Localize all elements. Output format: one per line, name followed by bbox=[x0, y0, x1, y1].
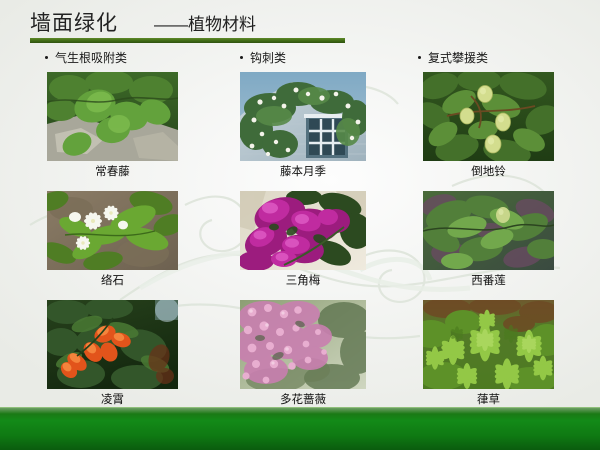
page-subtitle: ——植物材料 bbox=[154, 16, 256, 35]
photo-cell-5 bbox=[423, 191, 554, 270]
photo-caption-1: 藤本月季 bbox=[240, 163, 366, 179]
bullet-item-1: 钩刺类 bbox=[240, 49, 286, 66]
photo-cell-8 bbox=[423, 300, 554, 389]
plant-photo-2 bbox=[423, 72, 554, 161]
photo-caption-7: 多花蔷薇 bbox=[240, 391, 366, 407]
photo-cell-3 bbox=[47, 191, 178, 270]
photo-caption-5: 西番莲 bbox=[423, 272, 554, 288]
plant-photo-6 bbox=[47, 300, 178, 389]
plant-photo-4 bbox=[240, 191, 366, 270]
bullet-dot-icon bbox=[418, 56, 421, 59]
photo-cell-4 bbox=[240, 191, 366, 270]
bullet-dot-icon bbox=[45, 56, 48, 59]
bullet-label-1: 钩刺类 bbox=[250, 49, 286, 66]
plant-photo-1 bbox=[240, 72, 366, 161]
slide-title-block: 墙面绿化 ——植物材料 bbox=[30, 12, 345, 43]
photo-cell-0 bbox=[47, 72, 178, 161]
plant-photo-8 bbox=[423, 300, 554, 389]
plant-photo-3 bbox=[47, 191, 178, 270]
photo-caption-8: 葎草 bbox=[423, 391, 554, 407]
plant-photo-7 bbox=[240, 300, 366, 389]
bullet-label-0: 气生根吸附类 bbox=[55, 49, 127, 66]
bullet-item-0: 气生根吸附类 bbox=[45, 49, 127, 66]
photo-caption-6: 凌霄 bbox=[47, 391, 178, 407]
photo-cell-7 bbox=[240, 300, 366, 389]
bullet-label-2: 复式攀援类 bbox=[428, 49, 488, 66]
photo-cell-6 bbox=[47, 300, 178, 389]
bullet-dot-icon bbox=[240, 56, 243, 59]
title-underline-rule bbox=[30, 38, 345, 43]
photo-caption-4: 三角梅 bbox=[240, 272, 366, 288]
page-title: 墙面绿化 bbox=[30, 12, 118, 35]
photo-cell-2 bbox=[423, 72, 554, 161]
plant-photo-grid: 常春藤 bbox=[0, 0, 600, 450]
slide-canvas: 墙面绿化 ——植物材料 气生根吸附类 钩刺类 复式攀援类 bbox=[0, 0, 600, 450]
photo-caption-3: 络石 bbox=[47, 272, 178, 288]
category-bullet-list: 气生根吸附类 钩刺类 复式攀援类 bbox=[0, 49, 600, 67]
title-row: 墙面绿化 ——植物材料 bbox=[30, 12, 345, 35]
photo-caption-2: 倒地铃 bbox=[423, 163, 554, 179]
footer-sheen bbox=[0, 408, 600, 414]
bullet-item-2: 复式攀援类 bbox=[418, 49, 488, 66]
photo-caption-0: 常春藤 bbox=[47, 163, 178, 179]
photo-cell-1 bbox=[240, 72, 366, 161]
plant-photo-0 bbox=[47, 72, 178, 161]
footer-bar bbox=[0, 407, 600, 450]
plant-photo-5 bbox=[423, 191, 554, 270]
